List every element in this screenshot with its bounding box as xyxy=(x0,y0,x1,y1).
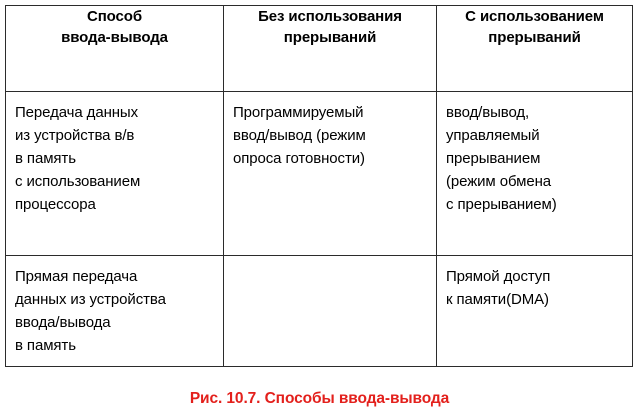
cell-text-r2c3: Прямой доступ к памяти(DMA) xyxy=(437,256,632,311)
header-line: ввода-вывода xyxy=(12,27,217,48)
cell-line: Прямая передача xyxy=(15,265,223,288)
cell-line: данных из устройства xyxy=(15,288,223,311)
cell-line: ввод/вывод (режим xyxy=(233,124,436,147)
io-methods-table: Способ ввода-вывода Без использования пр… xyxy=(5,5,633,367)
table-cell-r1c2: Программируемый ввод/вывод (режим опроса… xyxy=(224,92,437,256)
cell-line: ввода/вывода xyxy=(15,311,223,334)
cell-line: в память xyxy=(15,334,223,357)
table-header-cell-without-interrupts: Без использования прерываний xyxy=(224,6,437,92)
table-header-cell-with-interrupts: С использованием прерываний xyxy=(437,6,633,92)
cell-line: ввод/вывод, xyxy=(446,101,632,124)
figure-caption: Рис. 10.7. Способы ввода-вывода xyxy=(0,390,639,408)
cell-line: управляемый xyxy=(446,124,632,147)
table-cell-r2c2-empty xyxy=(224,256,437,367)
table-header-row: Способ ввода-вывода Без использования пр… xyxy=(6,6,633,92)
cell-text-r2c1: Прямая передача данных из устройства вво… xyxy=(6,256,223,357)
table-cell-r2c1: Прямая передача данных из устройства вво… xyxy=(6,256,224,367)
cell-line: (режим обмена xyxy=(446,170,632,193)
cell-line: с прерыванием) xyxy=(446,193,632,216)
cell-text-r1c2: Программируемый ввод/вывод (режим опроса… xyxy=(224,92,436,170)
cell-line: из устройства в/в xyxy=(15,124,223,147)
header-line: прерываний xyxy=(230,27,430,48)
table-cell-r2c3: Прямой доступ к памяти(DMA) xyxy=(437,256,633,367)
cell-line: Прямой доступ xyxy=(446,265,632,288)
header-text-without-interrupts: Без использования прерываний xyxy=(224,6,436,48)
header-line: Способ xyxy=(12,6,217,27)
header-line: С использованием xyxy=(443,6,626,27)
header-text-method: Способ ввода-вывода xyxy=(6,6,223,48)
cell-line: в память xyxy=(15,147,223,170)
header-text-with-interrupts: С использованием прерываний xyxy=(437,6,632,48)
table-cell-r1c3: ввод/вывод, управляемый прерыванием (реж… xyxy=(437,92,633,256)
table-row: Передача данных из устройства в/в в памя… xyxy=(6,92,633,256)
cell-line: Передача данных xyxy=(15,101,223,124)
cell-text-r2c2 xyxy=(224,256,436,266)
cell-line: опроса готовности) xyxy=(233,147,436,170)
cell-text-r1c3: ввод/вывод, управляемый прерыванием (реж… xyxy=(437,92,632,216)
cell-text-r1c1: Передача данных из устройства в/в в памя… xyxy=(6,92,223,216)
cell-line: процессора xyxy=(15,193,223,216)
table-row: Прямая передача данных из устройства вво… xyxy=(6,256,633,367)
cell-line: к памяти(DMA) xyxy=(446,288,632,311)
cell-line: прерыванием xyxy=(446,147,632,170)
cell-line: Программируемый xyxy=(233,101,436,124)
table-cell-r1c1: Передача данных из устройства в/в в памя… xyxy=(6,92,224,256)
header-line: Без использования xyxy=(230,6,430,27)
cell-line: с использованием xyxy=(15,170,223,193)
figure-container: Способ ввода-вывода Без использования пр… xyxy=(0,0,639,420)
header-line: прерываний xyxy=(443,27,626,48)
table-header-cell-method: Способ ввода-вывода xyxy=(6,6,224,92)
